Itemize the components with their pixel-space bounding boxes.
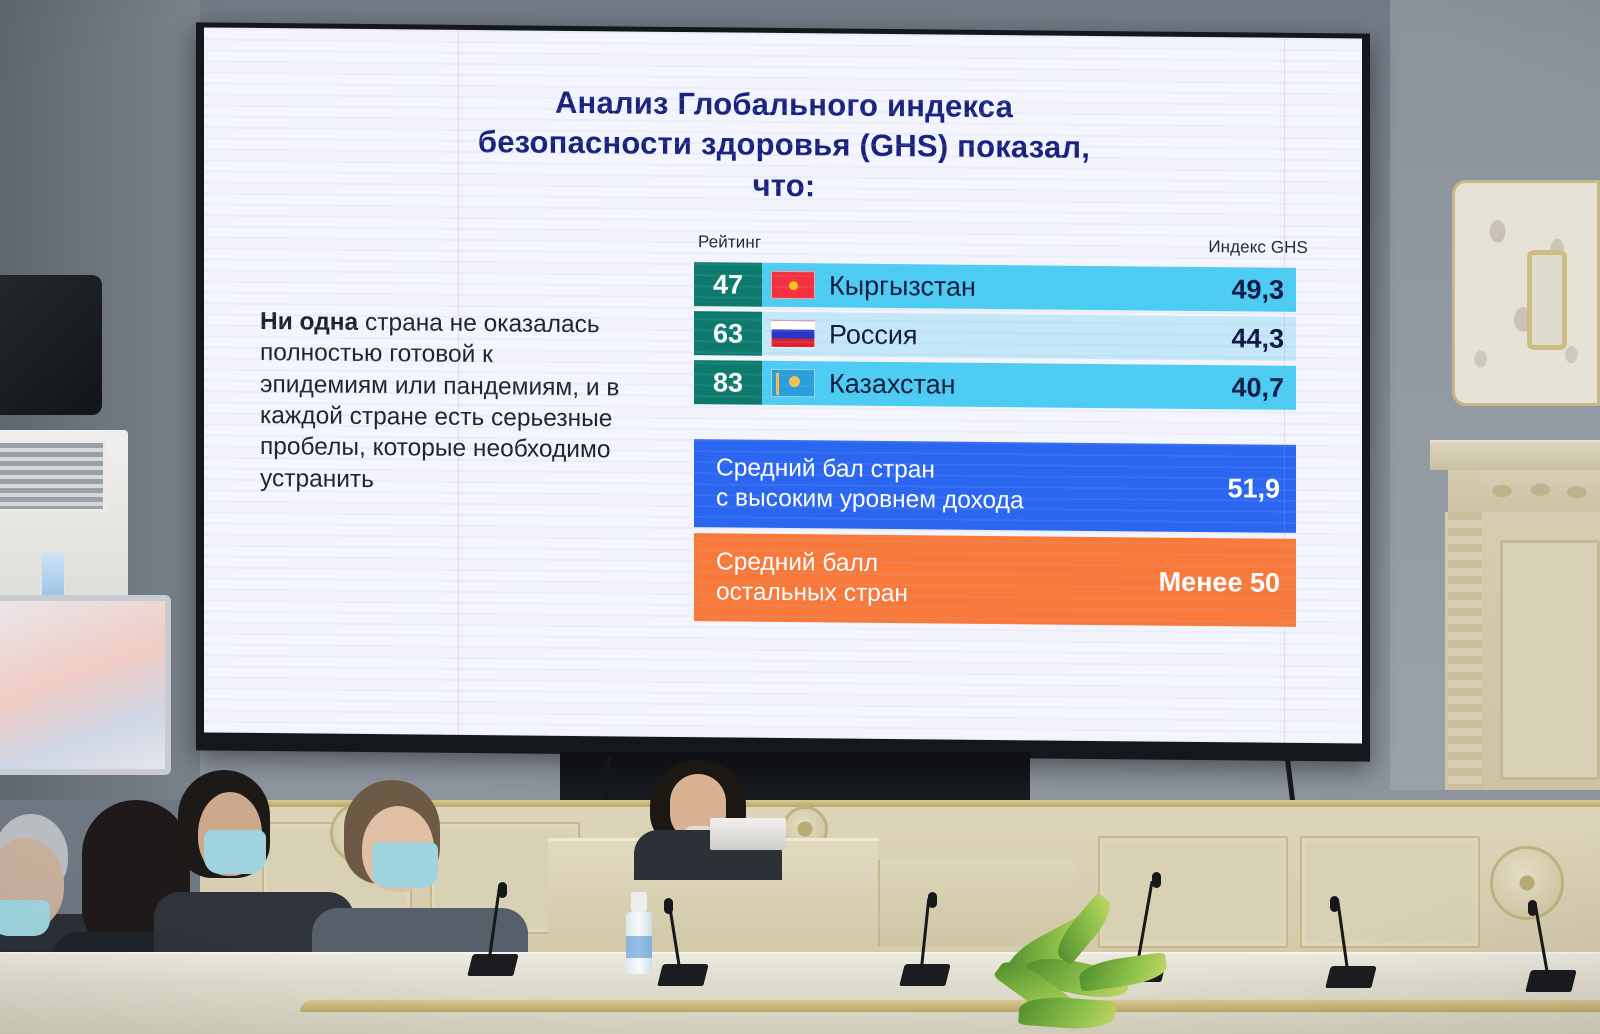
table-row: 83 Казахстан 40,7: [694, 360, 1296, 410]
summary-label-line-2: остальных стран: [716, 577, 908, 609]
microphone-stem: [1336, 900, 1349, 970]
door-cornice: [1430, 440, 1600, 470]
summary-bar-label: Средний бал стран с высоким уровнем дохо…: [716, 453, 1024, 516]
microphone: [470, 880, 520, 976]
microphone-base: [657, 964, 708, 986]
rank-badge: 63: [694, 311, 762, 356]
face-mask-icon: [204, 830, 266, 874]
microphone-head: [1330, 896, 1339, 912]
table-column-headers: Рейтинг Индекс GHS: [694, 232, 1314, 264]
microphone-base: [1325, 966, 1376, 988]
presenter-laptop: [710, 818, 786, 850]
table-row: 63 Россия 44,3: [694, 311, 1296, 361]
ac-grille: [0, 440, 106, 512]
kazakhstan-flag-icon: [771, 369, 815, 397]
slide-title: Анализ Глобального индекса безопасности …: [334, 81, 1234, 211]
damask-wall-panel: [1452, 180, 1600, 406]
bottle-cap: [631, 892, 647, 912]
row-bar: Казахстан 40,7: [762, 361, 1296, 410]
country-name: Кыргызстан: [829, 270, 976, 302]
microphone: [902, 890, 952, 986]
air-conditioner-unit: [0, 430, 128, 620]
paragraph-bold-lead: Ни одна: [260, 308, 358, 336]
gold-frame-decoration: [1527, 250, 1567, 350]
slide-body-paragraph: Ни одна страна не оказалась полностью го…: [260, 306, 620, 498]
kyrgyzstan-flag-icon: [771, 271, 815, 299]
plant-leaf: [1077, 952, 1168, 992]
summary-bar-value: Менее 50: [1159, 566, 1280, 598]
microphone: [660, 898, 710, 986]
bottle-label: [626, 936, 652, 958]
door-pilaster: [1448, 512, 1482, 790]
summary-bar-label: Средний балл остальных стран: [716, 547, 908, 609]
column-header-index: Индекс GHS: [1208, 237, 1308, 258]
microphone-head: [928, 892, 937, 908]
ghs-ranking-table: Рейтинг Индекс GHS 47 Кыргызстан 49,3 63: [694, 232, 1314, 633]
summary-bar-other-countries: Средний балл остальных стран Менее 50: [694, 533, 1296, 627]
microphone-head: [498, 882, 507, 898]
microphone: [1328, 896, 1378, 988]
wall-speaker: [0, 275, 102, 415]
country-name: Казахстан: [829, 368, 956, 400]
plant-leaf: [1018, 995, 1116, 1032]
led-screen-bezel: Анализ Глобального индекса безопасности …: [196, 22, 1370, 761]
column-header-rank: Рейтинг: [698, 232, 761, 253]
russia-flag-icon: [771, 320, 815, 348]
microphone-base: [1525, 970, 1576, 992]
microphone-head: [664, 898, 673, 914]
paragraph-rest: страна не оказалась полностью готовой к …: [260, 309, 619, 493]
face-mask-icon: [372, 842, 438, 888]
ac-display-panel[interactable]: [40, 550, 66, 598]
summary-bar-value: 51,9: [1227, 473, 1280, 505]
table-gold-edge: [300, 1000, 1600, 1012]
rank-badge: 83: [694, 360, 762, 405]
microphone-head: [1152, 872, 1161, 888]
whiteboard: [0, 595, 171, 775]
summary-label-line-1: Средний балл: [716, 547, 908, 579]
water-bottle: [626, 892, 652, 974]
rank-badge: 47: [694, 262, 762, 307]
led-panel-seam: [1284, 38, 1285, 743]
microphone-stem: [1534, 905, 1549, 974]
microphone-stem: [920, 898, 930, 968]
potted-plant: [985, 900, 1175, 1034]
microphone-head: [1528, 900, 1537, 916]
table-row: 47 Кыргызстан 49,3: [694, 262, 1296, 312]
led-panel-seam: [458, 30, 459, 735]
microphone-base: [899, 964, 950, 986]
slide-content: Анализ Глобального индекса безопасности …: [204, 27, 1362, 743]
microphone: [1528, 900, 1578, 992]
slide-title-line-3: что:: [334, 161, 1234, 210]
wall-panel: [1300, 836, 1480, 948]
row-bar: Россия 44,3: [762, 312, 1296, 361]
summary-bar-high-income: Средний бал стран с высоким уровнем дохо…: [694, 439, 1296, 533]
ghs-score: 44,3: [1231, 323, 1284, 355]
summary-label-line-1: Средний бал стран: [716, 453, 1024, 486]
ghs-score: 49,3: [1231, 274, 1284, 306]
presentation-screen[interactable]: Анализ Глобального индекса безопасности …: [204, 27, 1362, 743]
country-name: Россия: [829, 319, 918, 351]
summary-label-line-2: с высоким уровнем дохода: [716, 483, 1024, 516]
door-inner-panel: [1500, 540, 1600, 780]
row-bar: Кыргызстан 49,3: [762, 263, 1296, 312]
microphone-base: [467, 954, 518, 976]
ghs-score: 40,7: [1231, 372, 1284, 404]
face-mask-icon: [0, 900, 50, 936]
microphone-stem: [488, 888, 501, 958]
